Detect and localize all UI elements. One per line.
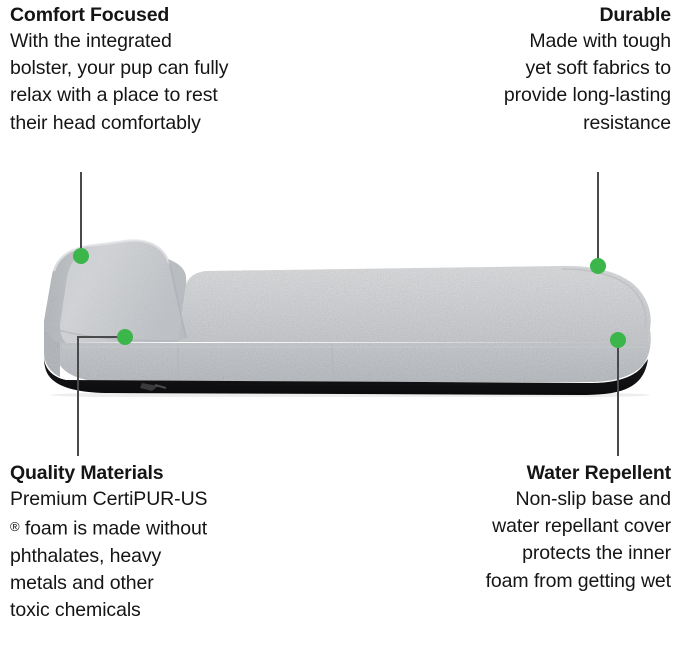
feature-body-comfort-focused: With the integrated bolster, your pup ca… [10,28,228,137]
feature-title-durable: Durable [504,2,671,28]
callout-dot-durable-top-surface [590,258,606,274]
feature-body-quality-materials: Premium CertiPUR-US ® foam is made witho… [10,486,207,625]
feature-title-comfort-focused: Comfort Focused [10,2,228,28]
feature-body-line-with-registered-mark: ® foam is made without [10,513,207,543]
callout-dot-bolster-head-rest [73,248,89,264]
feature-quality-materials: Quality Materials Premium CertiPUR-US ® … [10,460,207,625]
callout-dot-quality-foam-core [117,329,133,345]
leader-line-comfort-focused [80,172,82,256]
feature-comfort-focused: Comfort Focused With the integrated bols… [10,2,228,137]
feature-title-quality-materials: Quality Materials [10,460,207,486]
feature-durable: Durable Made with tough yet soft fabrics… [504,2,671,137]
feature-body-durable: Made with tough yet soft fabrics to prov… [504,28,671,137]
feature-water-repellent: Water Repellent Non-slip base and water … [486,460,671,595]
orthopedic-dog-bed-image [0,225,679,397]
feature-title-water-repellent: Water Repellent [486,460,671,486]
product-feature-infographic: Comfort Focused With the integrated bols… [0,0,679,646]
mattress-deck [178,266,651,343]
feature-body-water-repellent: Non-slip base and water repellant cover … [486,486,671,595]
registered-trademark-symbol: ® [10,519,19,534]
panel-seam-mid [332,345,333,381]
leader-line-durable [597,172,599,266]
leader-line-water-repellent [617,340,619,456]
leader-elbow-quality-materials-vertical [77,336,79,456]
raised-bolster-headrest [44,240,186,343]
callout-dot-water-repellent-base [610,332,626,348]
